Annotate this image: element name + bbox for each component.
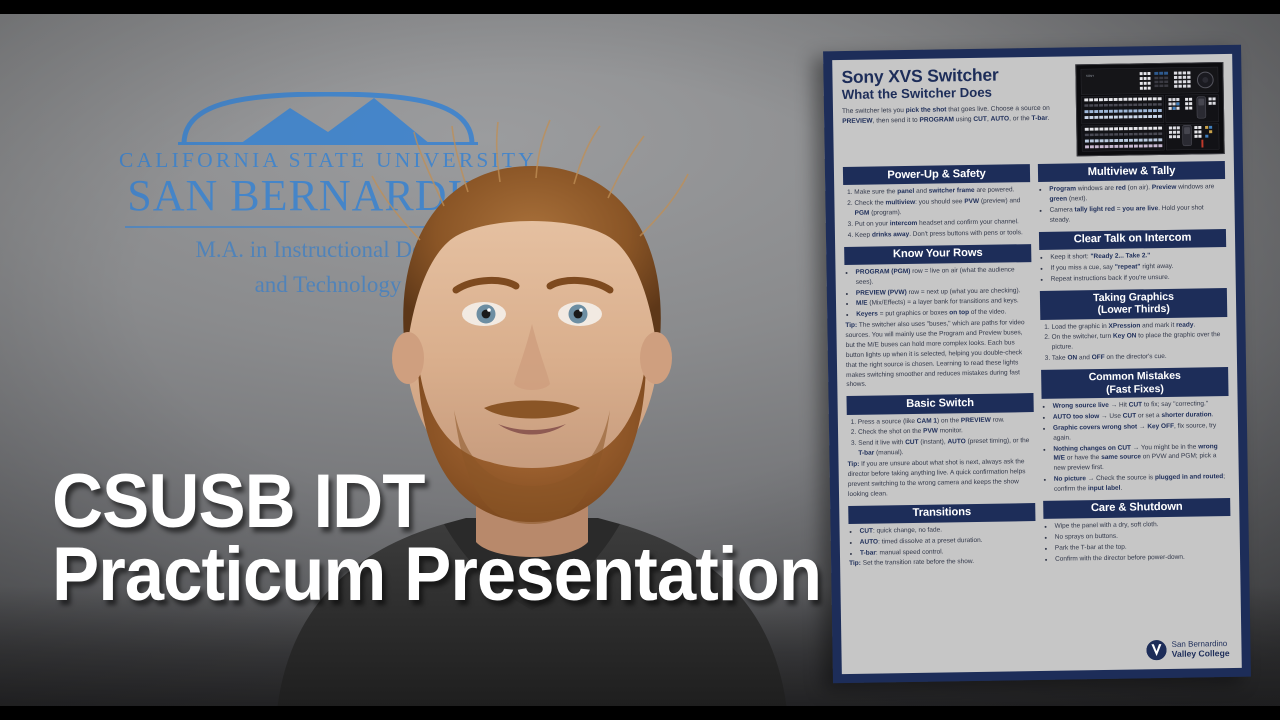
list-item: On the switcher, turn Key ON to place th… [1052,330,1228,353]
list-item: Take ON and OFF on the director's cue. [1052,351,1228,364]
section-heading-basic-switch: Basic Switch [846,393,1033,414]
list-item: Nothing changes on CUT → You might be in… [1053,442,1229,474]
title-line-1: CSUSB IDT [52,466,821,539]
section-heading-care-shutdown: Care & Shutdown [1043,498,1230,519]
poster-right-column: Multiview & Tally Program windows are re… [1038,161,1231,566]
list-item: Program windows are red (on air). Previe… [1049,182,1225,205]
list-item: PROGRAM (PGM) row = live on air (what th… [855,265,1031,288]
list-item: No picture → Check the source is plugged… [1054,472,1230,495]
list-item: Confirm with the director before power-d… [1055,552,1231,565]
section-list-common-mistakes: Wrong source live → Hit CUT to fix; say … [1042,399,1230,495]
section-heading-taking-graphics: Taking Graphics (Lower Thirds) [1040,288,1227,320]
list-item: Graphic covers wrong shot → Key OFF, fix… [1053,421,1229,444]
section-heading-common-mistakes: Common Mistakes (Fast Fixes) [1041,367,1228,399]
poster-subtitle: What the Switcher Does [842,85,1070,103]
section-list-care-shutdown: Wipe the panel with a dry, soft cloth. N… [1043,519,1231,564]
video-frame: CALIFORNIA STATE UNIVERSITY SAN BERNARDI… [0,0,1280,720]
sbvc-line-2: Valley College [1172,649,1230,660]
section-list-power-up-safety: Make sure the panel and switcher frame a… [843,185,1031,240]
section-heading-line-2: (Lower Thirds) [1042,302,1225,317]
v-circle-icon [1147,640,1167,660]
section-heading-power-up-safety: Power-Up & Safety [843,164,1030,185]
poster-border: Sony XVS Switcher What the Switcher Does… [823,45,1251,683]
svg-text:SONY: SONY [1086,74,1094,78]
poster-columns: Power-Up & Safety Make sure the panel an… [843,161,1231,569]
title-line-2: Practicum Presentation [52,539,821,612]
section-heading-line-2: (Fast Fixes) [1043,382,1226,397]
sbvc-footer-text: San Bernardino Valley College [1172,640,1230,659]
switcher-cheatsheet-poster: Sony XVS Switcher What the Switcher Does… [823,45,1251,683]
poster-content: Sony XVS Switcher What the Switcher Does… [832,54,1242,674]
list-item: Check the multiview: you should see PVW … [854,196,1030,219]
list-item: Send it live with CUT (instant), AUTO (p… [858,436,1034,459]
letterbox-bar-bottom [0,706,1280,720]
video-picture: CALIFORNIA STATE UNIVERSITY SAN BERNARDI… [0,14,1280,706]
section-tip-know-your-rows: Tip: The switcher also uses "buses," whi… [845,318,1033,390]
section-heading-know-your-rows: Know Your Rows [844,244,1031,265]
section-heading-clear-talk-intercom: Clear Talk on Intercom [1039,229,1226,250]
letterbox-bar-top [0,0,1280,14]
poster-header: Sony XVS Switcher What the Switcher Does… [841,62,1224,160]
sbvc-footer-logo: San Bernardino Valley College [1147,639,1230,660]
section-list-clear-talk-intercom: Keep it short: "Ready 2... Take 2." If y… [1039,250,1226,285]
section-list-taking-graphics: Load the graphic in XPression and mark i… [1040,320,1228,364]
poster-header-text: Sony XVS Switcher What the Switcher Does… [841,64,1070,127]
lower-third-title: CSUSB IDT Practicum Presentation [52,466,879,612]
list-item: Repeat instructions back if you're unsur… [1051,272,1227,285]
switcher-panel-photo: SONY [1075,62,1224,156]
list-item: Camera tally light red = you are live. H… [1050,203,1226,226]
list-item: Keep drinks away. Don't press buttons wi… [855,228,1031,241]
section-heading-multiview-tally: Multiview & Tally [1038,161,1225,182]
section-list-multiview-tally: Program windows are red (on air). Previe… [1038,182,1226,225]
section-list-basic-switch: Press a source (like CAM 1) on the PREVI… [847,415,1035,459]
section-list-know-your-rows: PROGRAM (PGM) row = live on air (what th… [844,265,1032,320]
poster-title: Sony XVS Switcher [841,64,1069,86]
poster-intro: The switcher lets you pick the shot that… [842,104,1070,127]
